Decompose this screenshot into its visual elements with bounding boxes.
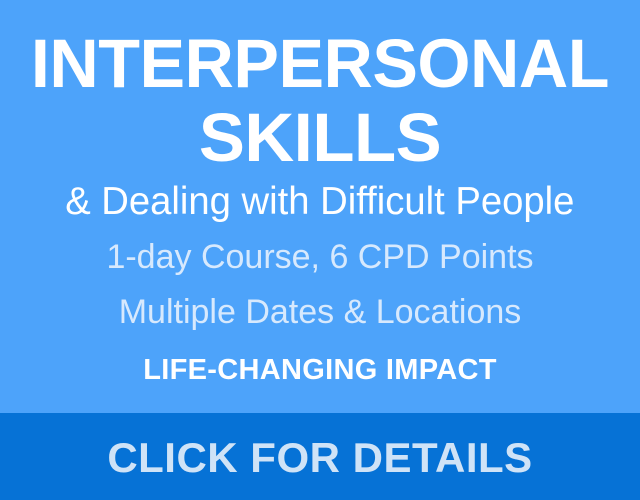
advertisement-banner[interactable]: INTERPERSONAL SKILLS & Dealing with Diff… <box>0 0 640 500</box>
cta-button[interactable]: CLICK FOR DETAILS <box>0 413 640 500</box>
headline-line-one: INTERPERSONAL <box>31 26 609 102</box>
cta-button-label: CLICK FOR DETAILS <box>107 435 532 481</box>
banner-content-panel: INTERPERSONAL SKILLS & Dealing with Diff… <box>0 0 640 413</box>
impact-statement: LIFE-CHANGING IMPACT <box>143 354 496 387</box>
headline-line-two: SKILLS <box>199 100 441 176</box>
banner-subheading: & Dealing with Difficult People <box>65 180 574 224</box>
course-detail-dates: Multiple Dates & Locations <box>119 293 522 331</box>
course-detail-duration: 1-day Course, 6 CPD Points <box>106 238 533 276</box>
